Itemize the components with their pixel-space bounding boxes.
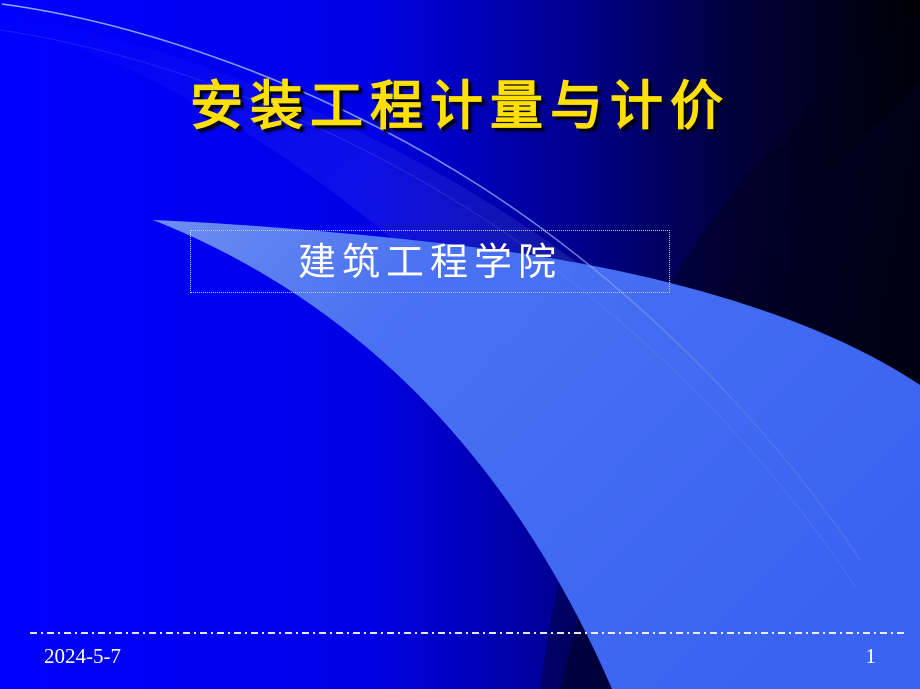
footer-page-number: 1 xyxy=(866,644,877,669)
subtitle-text: 建筑工程学院 xyxy=(298,243,562,281)
presentation-slide: 安装工程计量与计价 建筑工程学院 2024-5-7 1 xyxy=(0,0,920,689)
slide-title: 安装工程计量与计价 xyxy=(0,80,920,133)
footer-date: 2024-5-7 xyxy=(44,644,121,669)
footer-divider-rule xyxy=(30,632,905,634)
subtitle-box: 建筑工程学院 xyxy=(190,230,670,293)
